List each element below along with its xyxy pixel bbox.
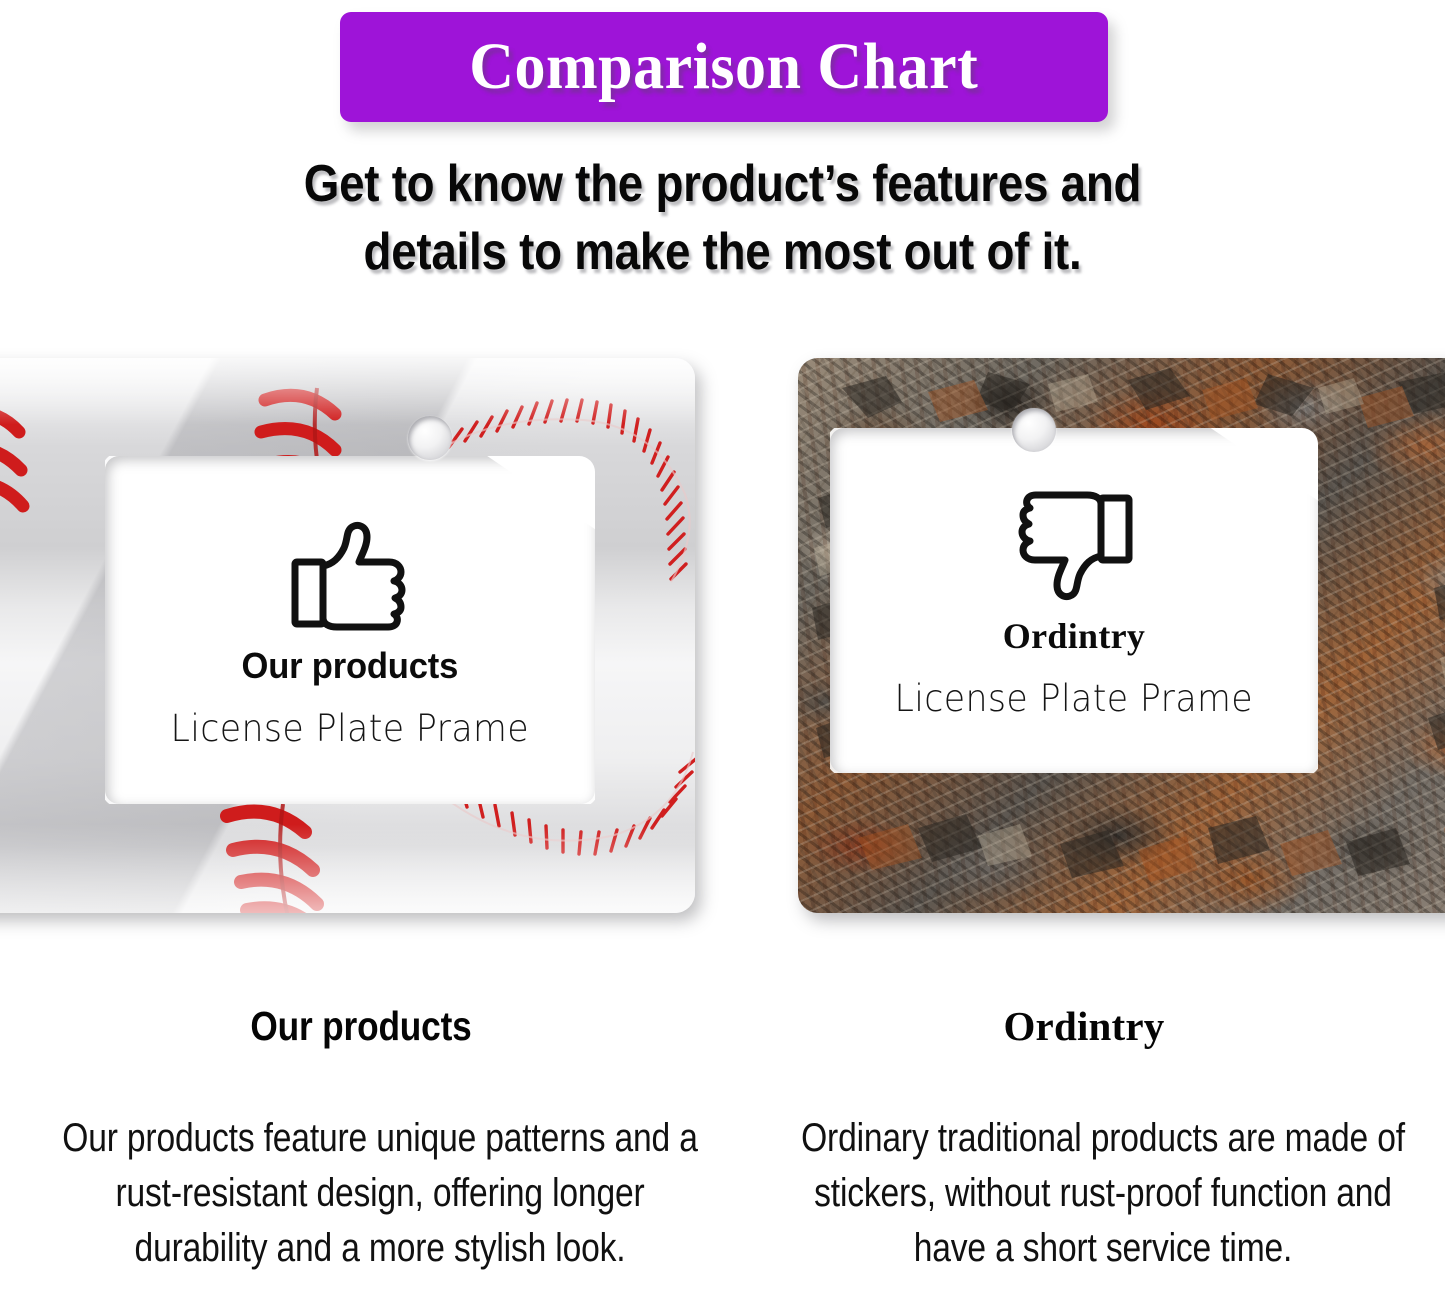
page-title: Comparison Chart <box>469 34 978 100</box>
window-title-left: Our products <box>242 648 459 684</box>
comparison-column-ours: Our products Our products feature unique… <box>0 980 722 1276</box>
header-section: Comparison Chart Get to know the product… <box>0 0 1445 330</box>
comparison-body-left: Our products feature unique patterns and… <box>61 1111 699 1276</box>
thumbs-up-icon <box>289 520 411 632</box>
window-subtitle-right: License Plate Prame <box>895 680 1254 717</box>
comparison-section: Our products Our products feature unique… <box>0 980 1445 1314</box>
subtitle-line-1: Get to know the product’s features and <box>87 150 1359 218</box>
license-window-right: Ordintry License Plate Prame <box>830 428 1318 773</box>
comparison-heading-left: Our products <box>51 1006 672 1047</box>
window-content-left: Our products License Plate Prame <box>105 456 595 804</box>
thumbs-down-icon <box>1013 490 1135 602</box>
subtitle: Get to know the product’s features and d… <box>87 150 1359 286</box>
license-window-left: Our products License Plate Prame <box>105 456 595 804</box>
title-banner: Comparison Chart <box>340 12 1108 122</box>
comparison-column-ordinary: Ordintry Ordinary traditional products a… <box>723 980 1445 1276</box>
screw-hole-right <box>1012 408 1056 452</box>
window-content-right: Ordintry License Plate Prame <box>830 428 1318 773</box>
subtitle-line-2: details to make the most out of it. <box>87 218 1359 286</box>
product-frame-ours: Our products License Plate Prame <box>0 358 695 913</box>
comparison-heading-right: Ordintry <box>723 1006 1445 1047</box>
showcase-section: Our products License Plate Prame <box>0 358 1445 918</box>
comparison-body-right: Ordinary traditional products are made o… <box>784 1111 1422 1276</box>
product-frame-ordinary: Ordintry License Plate Prame <box>798 358 1445 913</box>
window-subtitle-left: License Plate Prame <box>171 710 530 747</box>
window-title-right: Ordintry <box>1003 618 1145 654</box>
screw-hole-left <box>408 416 452 460</box>
